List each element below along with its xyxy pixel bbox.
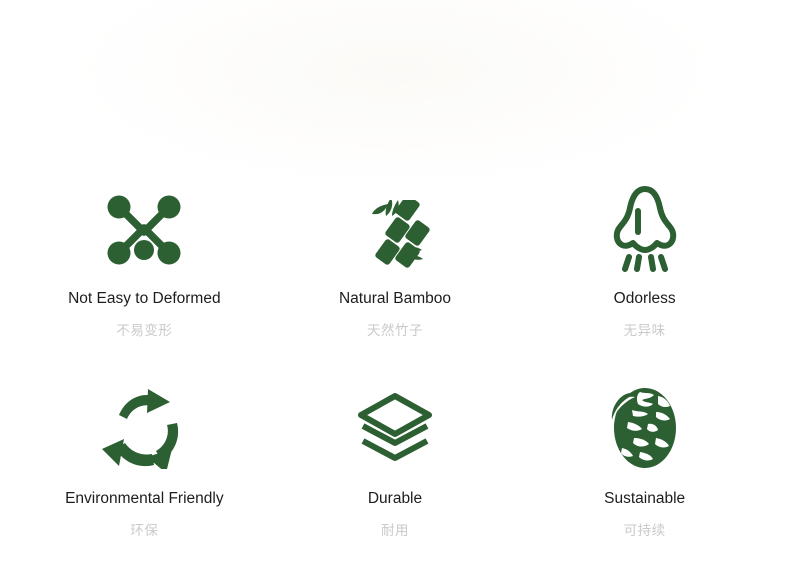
- globe-leaf-icon: [604, 380, 686, 476]
- feature-label-chinese: 耐用: [381, 519, 409, 539]
- header-block: FEATURE We pay attention to environmenta…: [0, 0, 790, 158]
- feature-item-durable: Durable 耐用: [272, 380, 519, 576]
- feature-label-chinese: 不易变形: [116, 319, 172, 339]
- feature-label: Durable: [368, 490, 422, 509]
- subtitle-chinese: 我们注重环保与人类健康: [0, 138, 790, 158]
- feature-item-natural-bamboo: Natural Bamboo 天然竹子: [272, 184, 519, 380]
- feature-item-environmental-friendly: Environmental Friendly 环保: [21, 380, 268, 576]
- feature-label-chinese: 可持续: [624, 519, 666, 539]
- subtitle-english: We pay attention to environmental protec…: [0, 106, 790, 126]
- feature-item-not-easy-to-deformed: Not Easy to Deformed 不易变形: [21, 184, 268, 380]
- feature-label-chinese: 无异味: [624, 319, 666, 339]
- feature-label: Environmental Friendly: [65, 490, 224, 509]
- feature-grid: Not Easy to Deformed 不易变形: [25, 184, 765, 576]
- feature-item-sustainable: Sustainable 可持续: [521, 380, 768, 576]
- feature-item-odorless: Odorless 无异味: [521, 184, 768, 380]
- feature-label-chinese: 环保: [130, 519, 158, 539]
- bamboo-icon: [358, 184, 432, 276]
- feature-label: Natural Bamboo: [339, 290, 451, 309]
- page-title: FEATURE: [0, 36, 790, 76]
- feature-section: FEATURE We pay attention to environmenta…: [0, 0, 790, 576]
- feature-label-chinese: 天然竹子: [367, 319, 423, 339]
- feature-label: Not Easy to Deformed: [68, 290, 220, 309]
- molecule-network-icon: [105, 184, 183, 276]
- layers-stack-icon: [355, 380, 435, 476]
- recycle-icon: [102, 380, 186, 476]
- nose-icon: [609, 184, 681, 276]
- feature-label: Sustainable: [604, 490, 685, 509]
- feature-label: Odorless: [614, 290, 676, 309]
